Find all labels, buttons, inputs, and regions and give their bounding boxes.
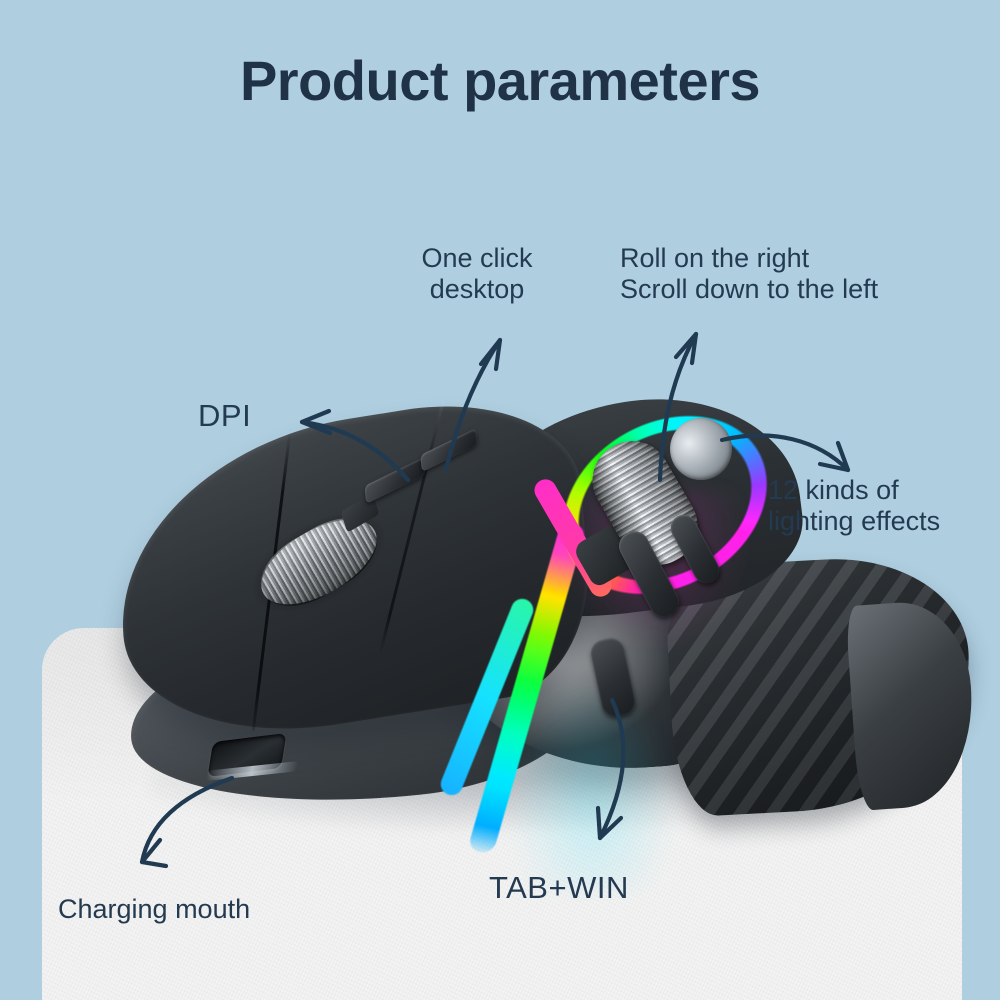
product-image-mouse bbox=[110, 380, 920, 810]
callout-label-one-click-desktop: One click desktop bbox=[383, 243, 571, 306]
callout-label-roll-scroll: Roll on the right Scroll down to the lef… bbox=[620, 243, 985, 306]
infographic-canvas: Product parameters bbox=[0, 0, 1000, 1000]
callout-label-lighting-effects: 12 kinds of lighting effects bbox=[768, 475, 998, 538]
callout-label-dpi: DPI bbox=[198, 398, 251, 434]
page-title: Product parameters bbox=[0, 48, 1000, 113]
callout-label-charging-mouth: Charging mouth bbox=[58, 894, 250, 925]
callout-label-tab-win: TAB+WIN bbox=[489, 870, 629, 906]
